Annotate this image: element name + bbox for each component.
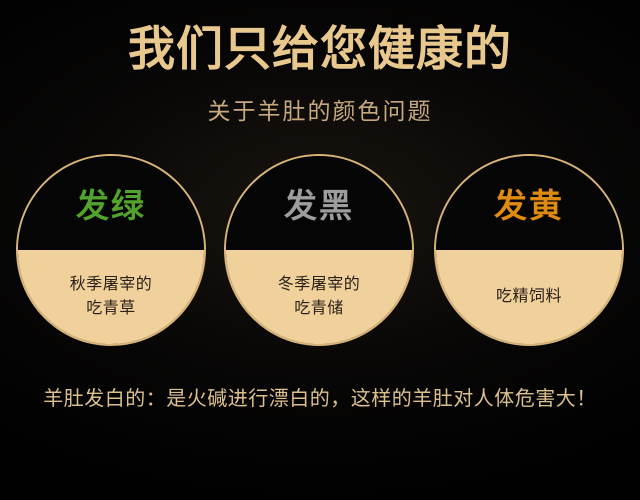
page-title: 我们只给您健康的 bbox=[0, 24, 640, 75]
circle-bottom-half-green: 秋季屠宰的 吃青草 bbox=[18, 250, 204, 344]
warning-note: 羊肚发白的：是火碱进行漂白的，这样的羊肚对人体危害大！ bbox=[0, 382, 640, 411]
circle-note-line: 吃精饲料 bbox=[496, 288, 562, 306]
circle-top-half-yellow: 发黄 bbox=[436, 156, 622, 250]
circle-top-half-green: 发绿 bbox=[18, 156, 204, 250]
color-guide-circle-group: 发绿 秋季屠宰的 吃青草 发黑 冬季屠宰的 吃青储 发黄 吃精饲料 bbox=[0, 154, 640, 348]
circle-top-half-black: 发黑 bbox=[226, 156, 412, 250]
color-guide-circle-black: 发黑 冬季屠宰的 吃青储 bbox=[224, 154, 414, 346]
color-guide-circle-green: 发绿 秋季屠宰的 吃青草 bbox=[16, 154, 206, 346]
promo-poster: 我们只给您健康的 关于羊肚的颜色问题 发绿 秋季屠宰的 吃青草 发黑 冬季屠宰的… bbox=[0, 0, 640, 500]
circle-note-line: 吃青储 bbox=[294, 300, 344, 318]
circle-note-line: 吃青草 bbox=[86, 300, 136, 318]
circle-bottom-half-black: 冬季屠宰的 吃青储 bbox=[226, 250, 412, 344]
color-guide-circle-yellow: 发黄 吃精饲料 bbox=[434, 154, 624, 346]
circle-label-black: 发黑 bbox=[284, 189, 354, 222]
page-subtitle: 关于羊肚的颜色问题 bbox=[0, 92, 640, 126]
circle-bottom-half-yellow: 吃精饲料 bbox=[436, 250, 622, 344]
circle-note-line: 秋季屠宰的 bbox=[70, 276, 153, 294]
circle-label-green: 发绿 bbox=[76, 189, 146, 222]
circle-note-line: 冬季屠宰的 bbox=[278, 276, 361, 294]
circle-label-yellow: 发黄 bbox=[494, 189, 564, 222]
